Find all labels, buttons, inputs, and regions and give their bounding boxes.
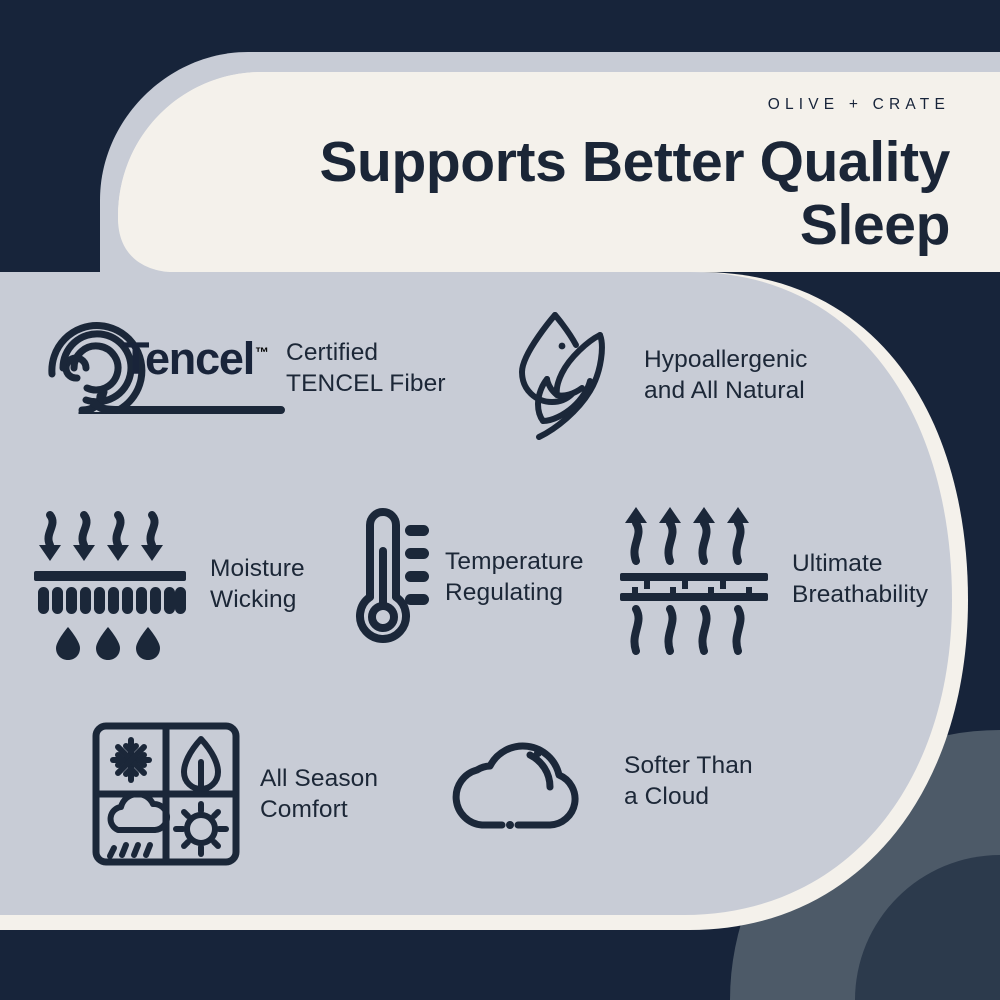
fabric-bar-bottom — [620, 593, 768, 601]
page-title: Supports Better Quality Sleep — [190, 131, 950, 258]
droplets — [56, 627, 160, 660]
airflow-waves — [634, 609, 740, 651]
fabric-bar-top — [620, 573, 768, 581]
leaf-icon — [184, 739, 218, 789]
feature-label: Softer Than a Cloud — [624, 750, 753, 813]
cloud-dot-bottom — [506, 821, 514, 829]
sparkle-dot — [559, 343, 566, 350]
feature-certified-tencel-fiber: Tencel™ Certified TENCEL Fiber — [38, 322, 446, 414]
cloud-dot-top — [534, 749, 542, 757]
sun-icon — [176, 804, 226, 854]
feature-ultimate-breathability: Ultimate Breathability — [620, 503, 928, 655]
cloud-icon — [440, 725, 602, 837]
brand-logo: OLIVE + CRATE — [0, 96, 950, 114]
feature-softer-than-a-cloud: Softer Than a Cloud — [440, 725, 753, 837]
feature-label: Temperature Regulating — [445, 546, 584, 609]
feature-label: Ultimate Breathability — [792, 548, 928, 611]
thermometer-ticks — [405, 525, 429, 605]
droplet-feather-icon — [508, 305, 626, 445]
fabric-bar — [34, 571, 186, 581]
trademark-symbol: ™ — [255, 344, 269, 360]
feature-temperature-regulating: Temperature Regulating — [345, 503, 584, 651]
thermometer-icon — [345, 503, 429, 651]
fringe — [38, 587, 186, 614]
feature-all-season-comfort: All Season Comfort — [92, 722, 378, 866]
snowflake-icon — [113, 740, 149, 780]
four-seasons-grid-icon — [92, 722, 240, 866]
bar-connectors — [632, 581, 752, 595]
up-arrows — [625, 507, 749, 561]
feature-label: All Season Comfort — [260, 763, 378, 826]
down-arrows — [39, 515, 163, 561]
feature-moisture-wicking: Moisture Wicking — [34, 505, 305, 663]
feature-hypoallergenic-all-natural: Hypoallergenic and All Natural — [508, 305, 807, 445]
moisture-wicking-icon — [34, 505, 194, 663]
feature-label: Hypoallergenic and All Natural — [644, 344, 807, 407]
feature-label: Moisture Wicking — [210, 553, 305, 616]
poster-canvas: OLIVE + CRATE Supports Better Quality Sl… — [0, 0, 1000, 1000]
tencel-wordmark: Tencel — [122, 333, 254, 384]
feature-label: Certified TENCEL Fiber — [286, 337, 446, 400]
rain-cloud-icon — [110, 794, 167, 856]
breathability-airflow-icon — [620, 503, 776, 655]
